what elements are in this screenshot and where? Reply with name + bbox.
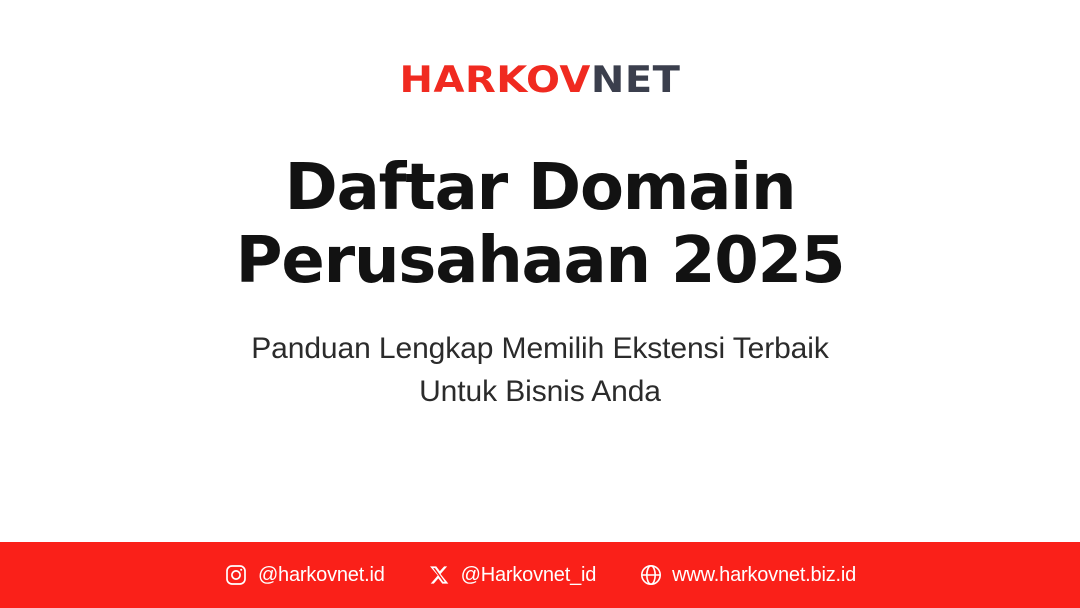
footer-item-x-twitter[interactable]: @Harkovnet_id: [427, 563, 597, 588]
page-title-line-2: Perusahaan 2025: [236, 227, 845, 296]
page-subtitle-line-2: Untuk Bisnis Anda: [251, 371, 828, 414]
footer-item-website[interactable]: www.harkovnet.biz.id: [638, 563, 856, 588]
page-subtitle: Panduan Lengkap Memilih Ekstensi Terbaik…: [251, 328, 828, 413]
instagram-icon: [224, 563, 249, 588]
footer-label-website: www.harkovnet.biz.id: [672, 565, 856, 586]
page-title-line-1: Daftar Domain: [236, 154, 845, 223]
logo-text-red: HARKOV: [400, 62, 591, 99]
globe-icon: [638, 563, 663, 588]
footer-item-instagram[interactable]: @harkovnet.id: [224, 563, 385, 588]
slide-canvas: HARKOVNET Daftar Domain Perusahaan 2025 …: [0, 0, 1080, 608]
logo-text-dark: NET: [591, 62, 681, 99]
footer-label-instagram: @harkovnet.id: [258, 565, 385, 586]
page-subtitle-line-1: Panduan Lengkap Memilih Ekstensi Terbaik: [251, 328, 828, 371]
logo-text: HARKOVNET: [400, 62, 681, 99]
footer-label-x-twitter: @Harkovnet_id: [461, 565, 597, 586]
footer-bar: @harkovnet.id @Harkovnet_id www.harkovne…: [0, 542, 1080, 608]
brand-logo: HARKOVNET: [400, 58, 681, 102]
page-title: Daftar Domain Perusahaan 2025: [236, 154, 845, 296]
x-twitter-icon: [427, 563, 452, 588]
